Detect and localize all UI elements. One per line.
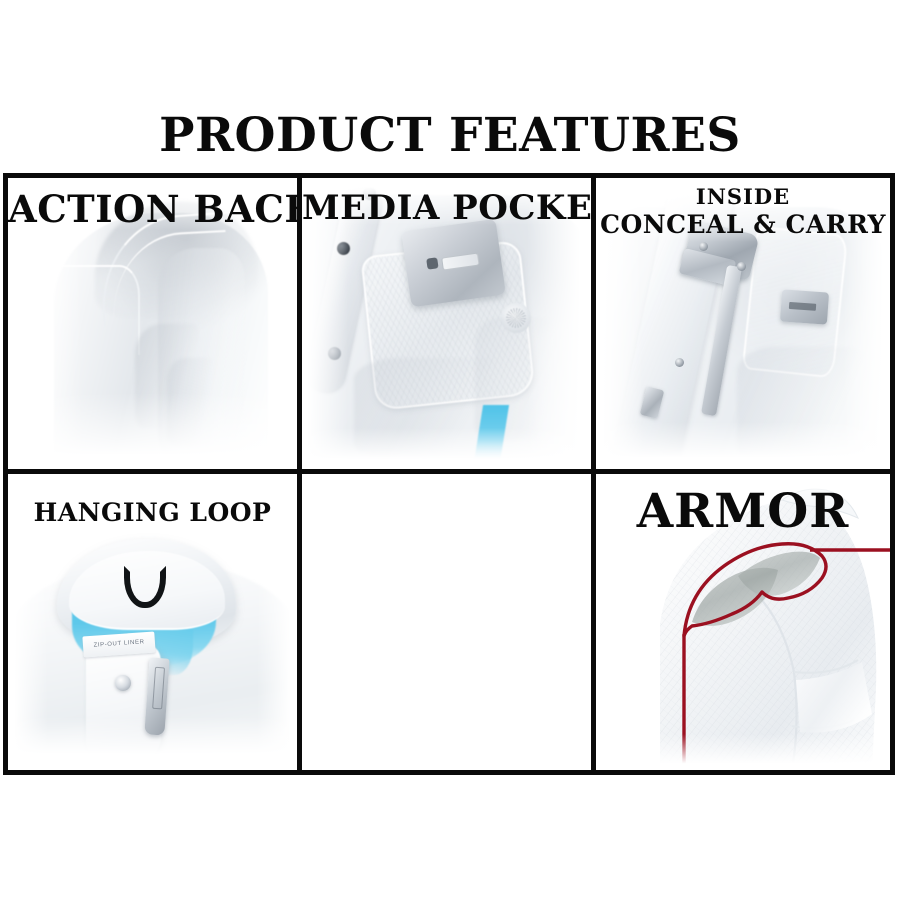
feature-cell-action-back[interactable]: ACTION BACK bbox=[8, 178, 302, 474]
features-grid: ACTION BACK bbox=[3, 173, 895, 775]
feature-cell-hanging-loop[interactable]: ZIP-OUT LINER HANGING LOOP bbox=[8, 474, 302, 770]
page-title: PRODUCT FEATURES bbox=[0, 112, 900, 159]
liner-label-text: ZIP-OUT LINER bbox=[83, 639, 155, 650]
feature-cell-blank[interactable] bbox=[302, 474, 596, 770]
feature-cell-armor[interactable]: ARMOR bbox=[596, 474, 890, 770]
armor-photo bbox=[596, 474, 890, 770]
conceal-carry-photo bbox=[596, 178, 890, 469]
feature-cell-conceal-carry[interactable]: INSIDE CONCEAL & CARRY bbox=[596, 178, 890, 474]
hanging-loop-photo: ZIP-OUT LINER bbox=[8, 474, 297, 770]
feature-cell-media-pocket[interactable]: MEDIA POCKET bbox=[302, 178, 596, 474]
media-pocket-photo bbox=[302, 178, 591, 469]
action-back-photo bbox=[8, 178, 297, 469]
product-features-graphic: PRODUCT FEATURES ACTION BACK bbox=[0, 0, 900, 900]
